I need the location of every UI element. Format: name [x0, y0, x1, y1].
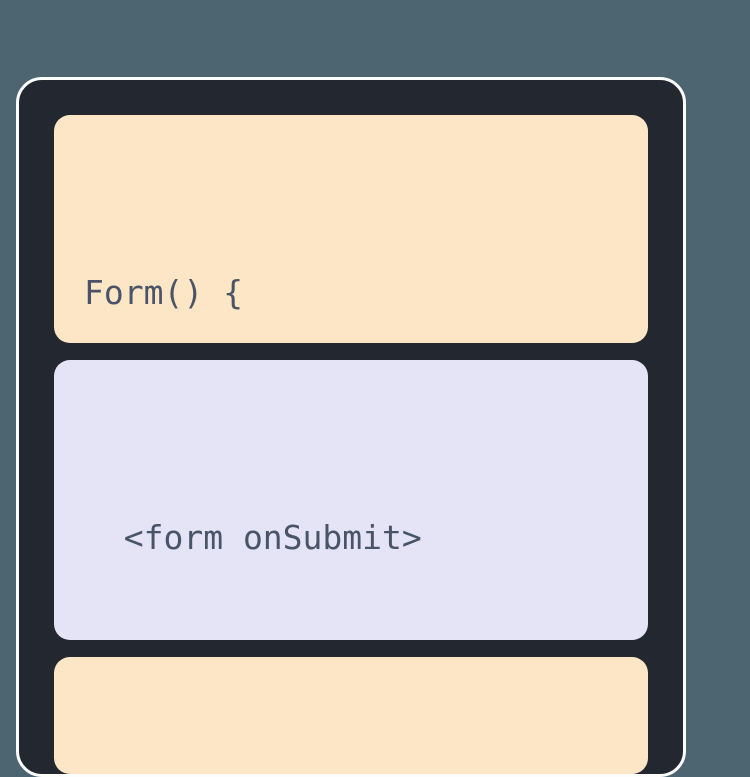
- code-block-jsx-markup: <form onSubmit> <input onClick /> <input…: [54, 360, 648, 640]
- code-block-function-declaration: Form() { onClick() {...} onSubmit() {...…: [54, 115, 648, 343]
- code-line: Form() {: [54, 261, 648, 325]
- code-panel: Form() { onClick() {...} onSubmit() {...…: [16, 77, 686, 777]
- code-line: <form onSubmit>: [54, 506, 648, 570]
- code-block-function-close: }: [54, 657, 648, 774]
